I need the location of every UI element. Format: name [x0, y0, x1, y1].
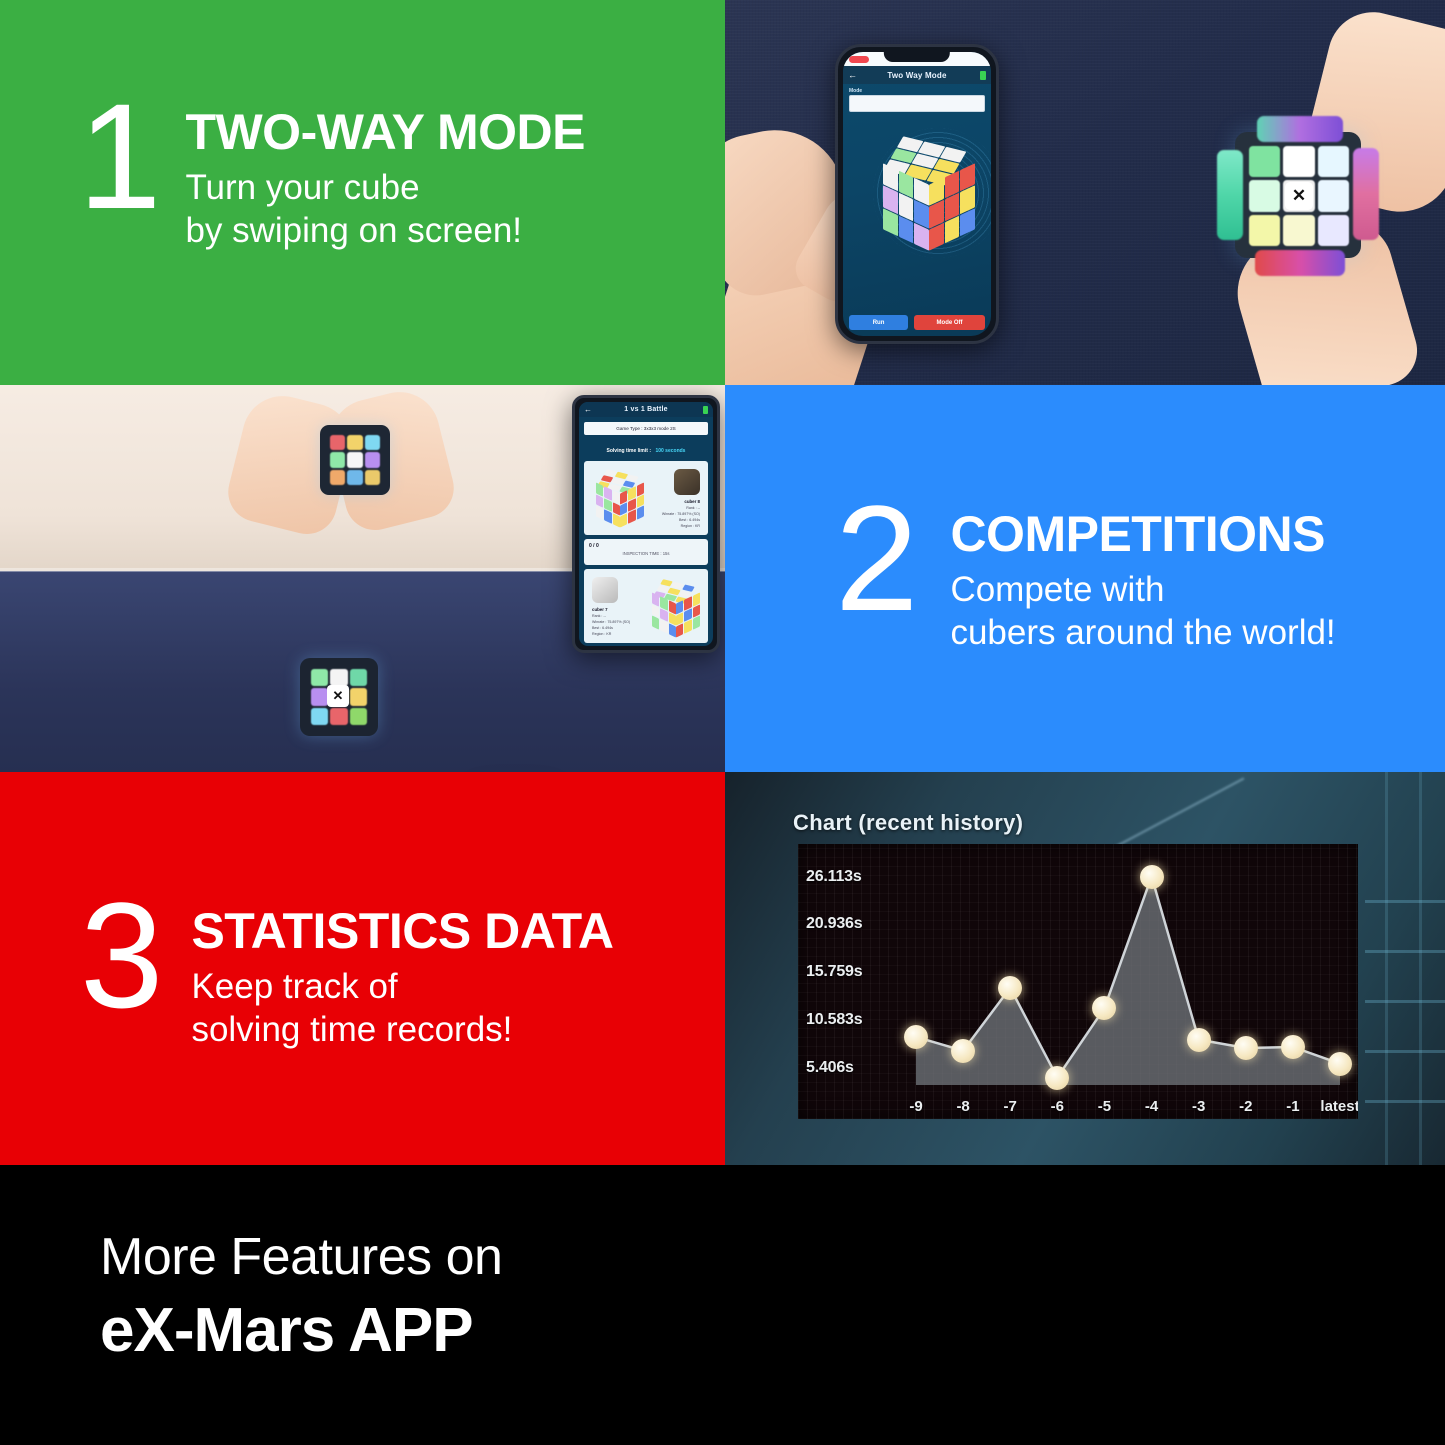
phone-battle-large[interactable]: ← 1 vs 1 Battle Game Type : 3x3x3 mode 2… [572, 395, 720, 653]
avatar [674, 469, 700, 495]
battle-app-bar: ← 1 vs 1 Battle [579, 402, 713, 417]
photo-panel-two-way-mode: ← Two Way Mode Mode [725, 0, 1445, 385]
battery-icon [980, 71, 986, 80]
back-arrow-icon[interactable]: ← [584, 406, 592, 414]
footer-line-1: More Features on [100, 1227, 502, 1287]
chart-point [1045, 1066, 1069, 1090]
photo-panel-statistics-chart: Chart (recent history) 26.113s20.936s15.… [725, 772, 1445, 1165]
smart-cube-edge-bottom [1255, 250, 1345, 276]
chart-point [1281, 1035, 1305, 1059]
chart-point [1234, 1036, 1258, 1060]
x-logo-icon-player2: ✕ [327, 685, 349, 707]
inspection-label: INSPECTION TIME : 15s [584, 551, 708, 556]
phone-two-way-mode[interactable]: ← Two Way Mode Mode [835, 44, 999, 344]
footer-bar: More Features on eX-Mars APP [0, 1165, 1445, 1445]
run-button[interactable]: Run [849, 315, 908, 330]
decoration-line [1365, 1100, 1445, 1103]
feature-panel-statistics-data: 3 STATISTICS DATA Keep track of solving … [0, 772, 725, 1165]
feature-1-block: 1 TWO-WAY MODE Turn your cube by swiping… [78, 95, 585, 252]
rubiks-cube-render[interactable] [871, 144, 979, 262]
player-card-bottom: cuber 7 Rank : -- Winrate : 75.897% (SO)… [584, 569, 708, 643]
smart-cube-player1-leds [330, 435, 380, 485]
smart-cube-edge-top [1257, 116, 1343, 142]
feature-2-text: COMPETITIONS Compete with cubers around … [950, 497, 1335, 654]
feature-3-block: 3 STATISTICS DATA Keep track of solving … [80, 894, 614, 1051]
smart-cube-edge-right [1353, 148, 1379, 240]
chart-series-svg [798, 844, 1358, 1119]
feature-panel-competitions: 2 COMPETITIONS Compete with cubers aroun… [725, 385, 1445, 772]
smart-cube-device[interactable]: ✕ [1223, 120, 1373, 270]
player-bottom-region: Region : KR [592, 632, 611, 636]
feature-2-number: 2 [835, 497, 916, 620]
feature-3-text: STATISTICS DATA Keep track of solving ti… [191, 894, 613, 1051]
chart-area-fill [916, 877, 1340, 1086]
footer-line-2: eX-Mars APP [100, 1295, 473, 1366]
feature-1-number: 1 [78, 95, 159, 218]
mode-off-button-label: Mode Off [937, 320, 963, 326]
time-limit-row: Solving time limit : 100 seconds [579, 439, 713, 457]
feature-1-title: TWO-WAY MODE [185, 107, 585, 157]
decoration-line [1365, 1050, 1445, 1053]
feature-3-number: 3 [80, 894, 161, 1017]
feature-2-block: 2 COMPETITIONS Compete with cubers aroun… [835, 497, 1336, 654]
chart-title: Chart (recent history) [793, 810, 1023, 836]
chart-point [1187, 1028, 1211, 1052]
chart-point [1092, 996, 1116, 1020]
cube-thumb-bottom [646, 583, 702, 637]
app-bar: ← Two Way Mode [843, 66, 991, 84]
player-top-name: cuber 8 [684, 499, 700, 504]
decoration-line-vertical [1419, 772, 1422, 1165]
inspection-card: 0 / 0 INSPECTION TIME : 15s [584, 539, 708, 565]
mode-off-button[interactable]: Mode Off [914, 315, 985, 330]
feature-2-subtitle: Compete with cubers around the world! [950, 569, 1335, 654]
decoration-line [1365, 900, 1445, 903]
decoration-line-vertical [1385, 772, 1388, 1165]
x-logo-icon: ✕ [1285, 182, 1313, 210]
app-bar-title: Two Way Mode [887, 71, 946, 80]
battery-icon [703, 406, 708, 414]
phone-notch [884, 49, 950, 62]
player-card-top: cuber 8 Rank : -- Winrate : 75.897% (SO)… [584, 461, 708, 535]
player-top-best: Best : 6.494s [679, 518, 700, 522]
phone-bottom-buttons: Run Mode Off [849, 315, 985, 330]
photo-panel-competitions: ✕ ← 1 vs 1 Battle Game Type : 3x3x3 mode… [0, 385, 725, 772]
mode-input[interactable] [849, 95, 985, 112]
time-limit-label: Solving time limit : [607, 448, 651, 454]
feature-panel-two-way-mode: 1 TWO-WAY MODE Turn your cube by swiping… [0, 0, 725, 385]
back-arrow-icon[interactable]: ← [848, 71, 857, 80]
record-indicator [849, 56, 869, 63]
feature-3-title: STATISTICS DATA [191, 906, 613, 956]
decoration-line [1365, 1000, 1445, 1003]
chart-plot-area[interactable]: 26.113s20.936s15.759s10.583s5.406s -9-8-… [798, 844, 1358, 1119]
chart-point [1140, 865, 1164, 889]
battle-title: 1 vs 1 Battle [624, 406, 667, 413]
player-top-region: Region : KR [681, 524, 700, 528]
feature-1-text: TWO-WAY MODE Turn your cube by swiping o… [185, 95, 585, 252]
chart-point [951, 1039, 975, 1063]
feature-3-subtitle: Keep track of solving time records! [191, 966, 613, 1051]
chart-point [998, 976, 1022, 1000]
mode-field-label: Mode [849, 88, 991, 94]
game-type-label: Game Type : 3x3x3 mode 2S [616, 426, 675, 431]
score-value: 0 / 0 [589, 543, 599, 549]
player-bottom-best: Best : 6.494s [592, 626, 613, 630]
game-type-chip: Game Type : 3x3x3 mode 2S [584, 422, 708, 435]
smart-cube-edge-left [1217, 150, 1243, 240]
player-top-winrate: Winrate : 75.897% (SO) [662, 512, 700, 516]
feature-1-subtitle: Turn your cube by swiping on screen! [185, 167, 585, 252]
chart-point [1328, 1052, 1352, 1076]
time-limit-value: 100 seconds [655, 448, 685, 454]
feature-2-title: COMPETITIONS [950, 509, 1335, 559]
player-bottom-rank: Rank : -- [592, 614, 606, 618]
avatar [592, 577, 618, 603]
phone-battle-screen[interactable]: ← 1 vs 1 Battle Game Type : 3x3x3 mode 2… [579, 402, 713, 646]
player-bottom-name: cuber 7 [592, 607, 608, 612]
cube-thumb-top [590, 473, 646, 527]
product-feature-collage: 1 TWO-WAY MODE Turn your cube by swiping… [0, 0, 1445, 1445]
chart-point [904, 1025, 928, 1049]
phone-screen[interactable]: ← Two Way Mode Mode [843, 52, 991, 336]
decoration-line [1365, 950, 1445, 953]
player-top-rank: Rank : -- [686, 506, 700, 510]
player-bottom-winrate: Winrate : 75.897% (SO) [592, 620, 630, 624]
run-button-label: Run [873, 320, 885, 326]
